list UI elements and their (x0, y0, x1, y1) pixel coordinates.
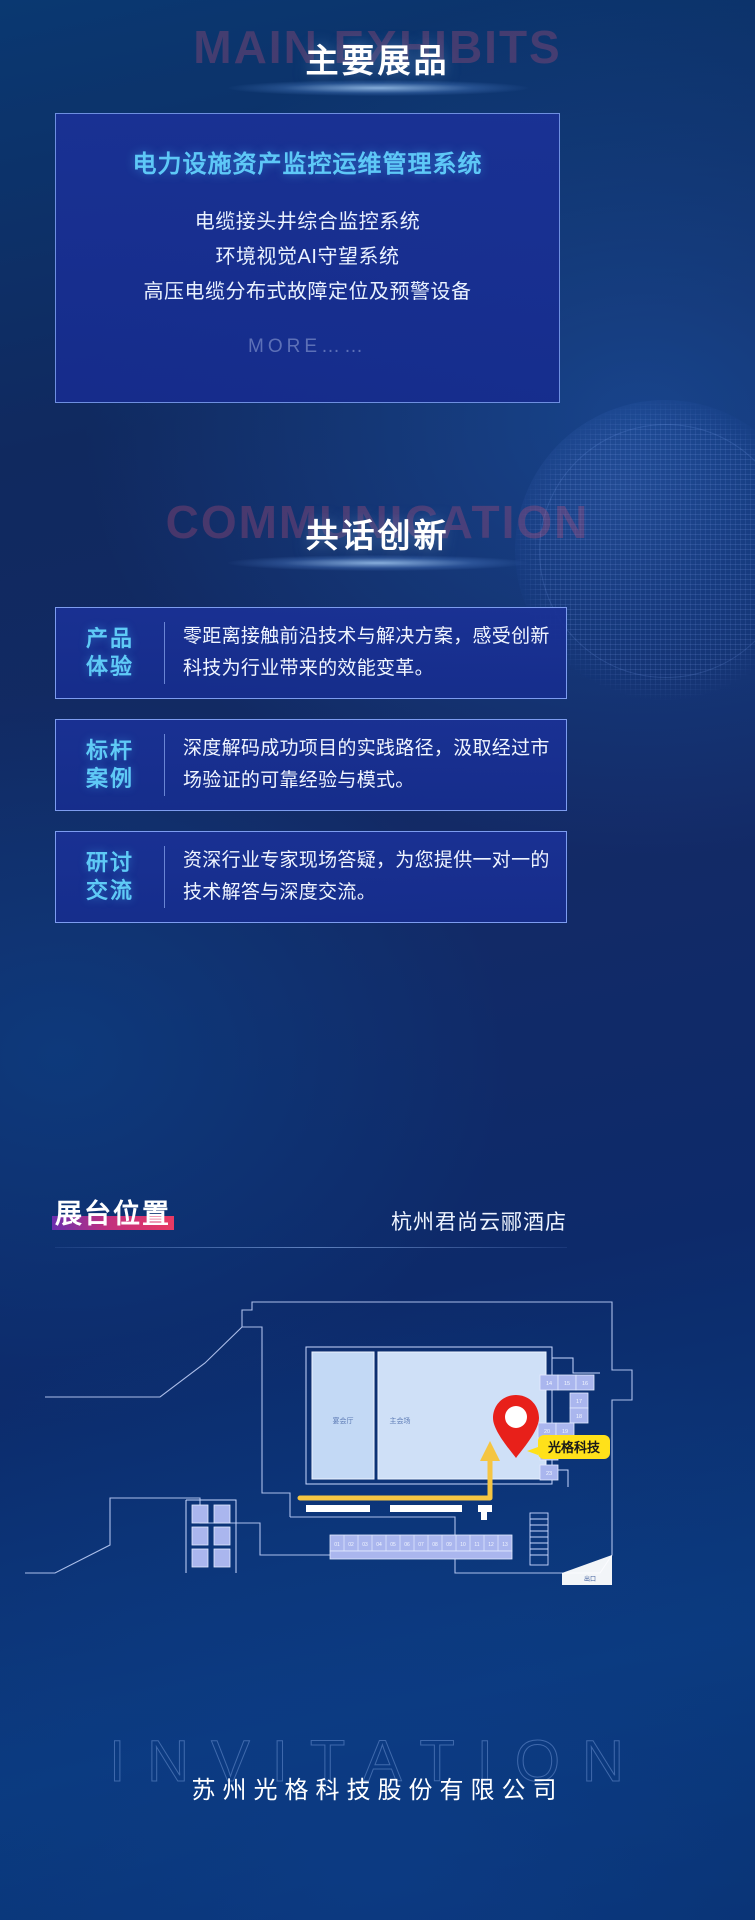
svg-text:10: 10 (460, 1542, 466, 1548)
stairs (530, 1513, 548, 1565)
svg-text:03: 03 (362, 1542, 368, 1548)
feature-tag: 产品 体验 (56, 625, 164, 681)
hall-label: 主会场 (390, 1416, 411, 1425)
svg-text:01: 01 (334, 1542, 340, 1548)
svg-text:09: 09 (446, 1542, 452, 1548)
svg-text:16: 16 (582, 1381, 588, 1387)
pin-label[interactable]: 光格科技 (527, 1435, 610, 1459)
hall-label: 宴会厅 (333, 1416, 354, 1425)
section-glow-exhibits (228, 80, 528, 96)
feature-description: 深度解码成功项目的实践路径，汲取经过市场验证的可靠经验与模式。 (165, 733, 566, 797)
booth-header: 展台位置 杭州君尚云郦酒店 (55, 1192, 567, 1238)
left-rooms (192, 1505, 230, 1567)
floor-plan-svg: 宴会厅 主会场 14 15 16 17 18 (0, 1255, 755, 1595)
footer: INVITATION 苏州光格科技股份有限公司 (0, 1770, 755, 1805)
svg-text:17: 17 (576, 1399, 582, 1405)
feature-tag-line2: 体验 (56, 653, 164, 681)
svg-text:12: 12 (488, 1542, 494, 1548)
svg-text:11: 11 (474, 1542, 479, 1548)
feature-tag-line1: 标杆 (56, 737, 164, 765)
svg-text:18: 18 (576, 1414, 582, 1420)
section-header-communication: COMMUNICATION 共话创新 (0, 487, 755, 579)
svg-text:19: 19 (562, 1429, 568, 1435)
feature-description: 资深行业专家现场答疑，为您提供一对一的技术解答与深度交流。 (165, 845, 566, 909)
section-header-exhibits: MAIN EXHIBITS 主要展品 (0, 12, 755, 104)
feature-description: 零距离接触前沿技术与解决方案，感受创新科技为行业带来的效能变革。 (165, 621, 566, 685)
exhibits-list: 电缆接头井综合监控系统 环境视觉AI守望系统 高压电缆分布式故障定位及预警设备 (56, 205, 559, 310)
svg-text:15: 15 (564, 1381, 570, 1387)
svg-text:04: 04 (376, 1542, 382, 1548)
exhibits-headline: 电力设施资产监控运维管理系统 (56, 144, 559, 179)
list-item: 环境视觉AI守望系统 (56, 240, 559, 275)
booth-title-wrap: 展台位置 (55, 1192, 171, 1231)
corridor-bars (306, 1505, 492, 1520)
list-item: 电缆接头井综合监控系统 (56, 205, 559, 240)
invitation-poster: MAIN EXHIBITS 主要展品 电力设施资产监控运维管理系统 电缆接头井综… (0, 0, 755, 1920)
svg-text:07: 07 (418, 1542, 424, 1548)
booth-title: 展台位置 (55, 1192, 171, 1231)
floor-plan-map[interactable]: 宴会厅 主会场 14 15 16 17 18 (0, 1255, 755, 1595)
svg-text:13: 13 (502, 1542, 508, 1548)
feature-tag-line1: 产品 (56, 625, 164, 653)
exit-area: 出口 (562, 1555, 612, 1585)
svg-text:06: 06 (404, 1542, 410, 1548)
exhibits-card: 电力设施资产监控运维管理系统 电缆接头井综合监控系统 环境视觉AI守望系统 高压… (55, 113, 560, 403)
hall-block-banquet (312, 1352, 374, 1479)
svg-text:14: 14 (546, 1381, 552, 1387)
exit-label: 出口 (584, 1575, 596, 1583)
feature-card-seminar-exchange[interactable]: 研讨 交流 资深行业专家现场答疑，为您提供一对一的技术解答与深度交流。 (55, 831, 567, 923)
booth-divider (55, 1247, 567, 1248)
feature-tag: 标杆 案例 (56, 737, 164, 793)
pin-label-text: 光格科技 (547, 1440, 601, 1455)
booth-venue: 杭州君尚云郦酒店 (391, 1206, 567, 1236)
svg-text:08: 08 (432, 1542, 438, 1548)
feature-tag-line2: 案例 (56, 765, 164, 793)
svg-text:05: 05 (390, 1542, 396, 1548)
feature-tag-line1: 研讨 (56, 849, 164, 877)
svg-text:02: 02 (348, 1542, 354, 1548)
section-glow-communication (228, 555, 528, 571)
svg-text:20: 20 (544, 1429, 550, 1435)
more-link[interactable]: MORE…… (56, 336, 559, 358)
section-title-exhibits: 主要展品 (0, 34, 755, 82)
company-name: 苏州光格科技股份有限公司 (0, 1770, 755, 1805)
feature-card-benchmark-case[interactable]: 标杆 案例 深度解码成功项目的实践路径，汲取经过市场验证的可靠经验与模式。 (55, 719, 567, 811)
feature-card-product-experience[interactable]: 产品 体验 零距离接触前沿技术与解决方案，感受创新科技为行业带来的效能变革。 (55, 607, 567, 699)
list-item: 高压电缆分布式故障定位及预警设备 (56, 275, 559, 310)
svg-text:23: 23 (546, 1471, 552, 1477)
feature-tag-line2: 交流 (56, 877, 164, 905)
feature-tag: 研讨 交流 (56, 849, 164, 905)
section-title-communication: 共话创新 (0, 509, 755, 557)
